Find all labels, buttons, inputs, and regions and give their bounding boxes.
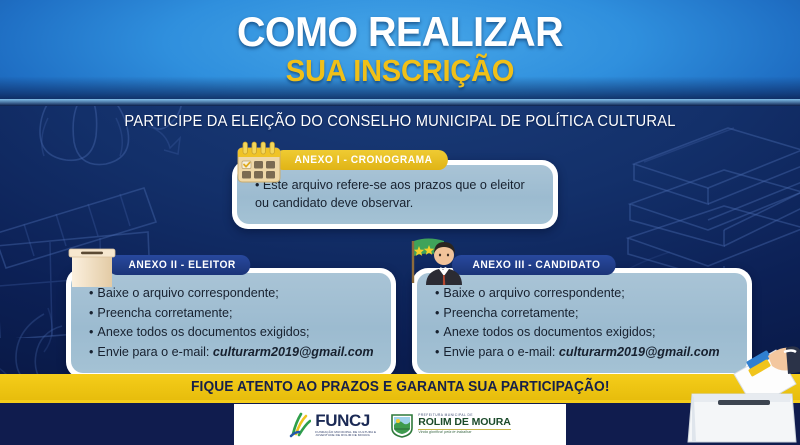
funcj-mark-icon [289, 412, 311, 438]
books-stack-icon [614, 112, 800, 272]
list-item-text: Envie para o e-mail: [97, 345, 213, 359]
list-item: •Preencha corretamente; [89, 304, 377, 324]
ballot-box-photo [682, 330, 800, 445]
list-item-text: Baixe o arquivo correspondente; [443, 286, 624, 300]
city-coat-of-arms-icon [390, 412, 414, 438]
card-paragraph: • Este arquivo refere-se aos prazos que … [255, 176, 539, 213]
list-item: •Anexe todos os documentos exigidos; [89, 323, 377, 343]
email-address: culturarm2019@gmail.com [213, 345, 374, 359]
card-label-anexo-1: ANEXO I - CRONOGRAMA [274, 150, 447, 170]
list-item-text: Anexe todos os documentos exigidos; [97, 325, 309, 339]
card-body: •Baixe o arquivo correspondente; •Preenc… [71, 273, 391, 373]
list-item-text: Anexe todos os documentos exigidos; [443, 325, 655, 339]
list-item: •Baixe o arquivo correspondente; [89, 284, 377, 304]
rolim-de-moura-logo: PREFEITURA MUNICIPAL DE ROLIM DE MOURA V… [390, 412, 511, 438]
card-list: •Baixe o arquivo correspondente; •Preenc… [89, 284, 377, 362]
list-item-text: Baixe o arquivo correspondente; [97, 286, 278, 300]
card-label-anexo-3: ANEXO III - CANDIDATO [452, 255, 615, 275]
page-subtitle-highlight: SUA INSCRIÇÃO [24, 53, 776, 89]
page-title: COMO REALIZAR [24, 8, 776, 56]
footer-banner: FIQUE ATENTO AO PRAZOS E GARANTA SUA PAR… [0, 374, 800, 400]
funcj-logo: FUNCJ FUNDAÇÃO MUNICIPAL DE CULTURA E JU… [289, 412, 376, 438]
event-description: PARTICIPE DA ELEIÇÃO DO CONSELHO MUNICIP… [20, 113, 780, 131]
footer-banner-text: FIQUE ATENTO AO PRAZOS E GARANTA SUA PAR… [191, 379, 610, 395]
candidate-icon [408, 235, 470, 294]
funcj-subtitle-line2: JUVENTUDE DE ROLIM DE MOURA [315, 434, 376, 437]
card-label-anexo-2: ANEXO II - ELEITOR [108, 255, 251, 275]
list-item-text: Preencha corretamente; [97, 306, 232, 320]
list-item-text: Preencha corretamente; [443, 306, 578, 320]
ballot-box-icon [66, 243, 118, 294]
list-item-text: Envie para o e-mail: [443, 345, 559, 359]
logo-strip: FUNCJ FUNDAÇÃO MUNICIPAL DE CULTURA E JU… [234, 404, 566, 445]
list-item: •Preencha corretamente; [435, 304, 733, 324]
list-item: •Baixe o arquivo correspondente; [435, 284, 733, 304]
poster-canvas: COMO REALIZAR SUA INSCRIÇÃO PARTICIPE DA… [0, 0, 800, 445]
rolim-name: ROLIM DE MOURA [418, 417, 511, 428]
rolim-tagline: Vinda glorifica! pela te trabalhar [418, 431, 511, 435]
list-item: •Envie para o e-mail: culturarm2019@gmai… [89, 343, 377, 363]
card-body: • Este arquivo refere-se aos prazos que … [237, 165, 553, 224]
calendar-icon [234, 140, 284, 189]
funcj-name: FUNCJ [315, 412, 376, 429]
